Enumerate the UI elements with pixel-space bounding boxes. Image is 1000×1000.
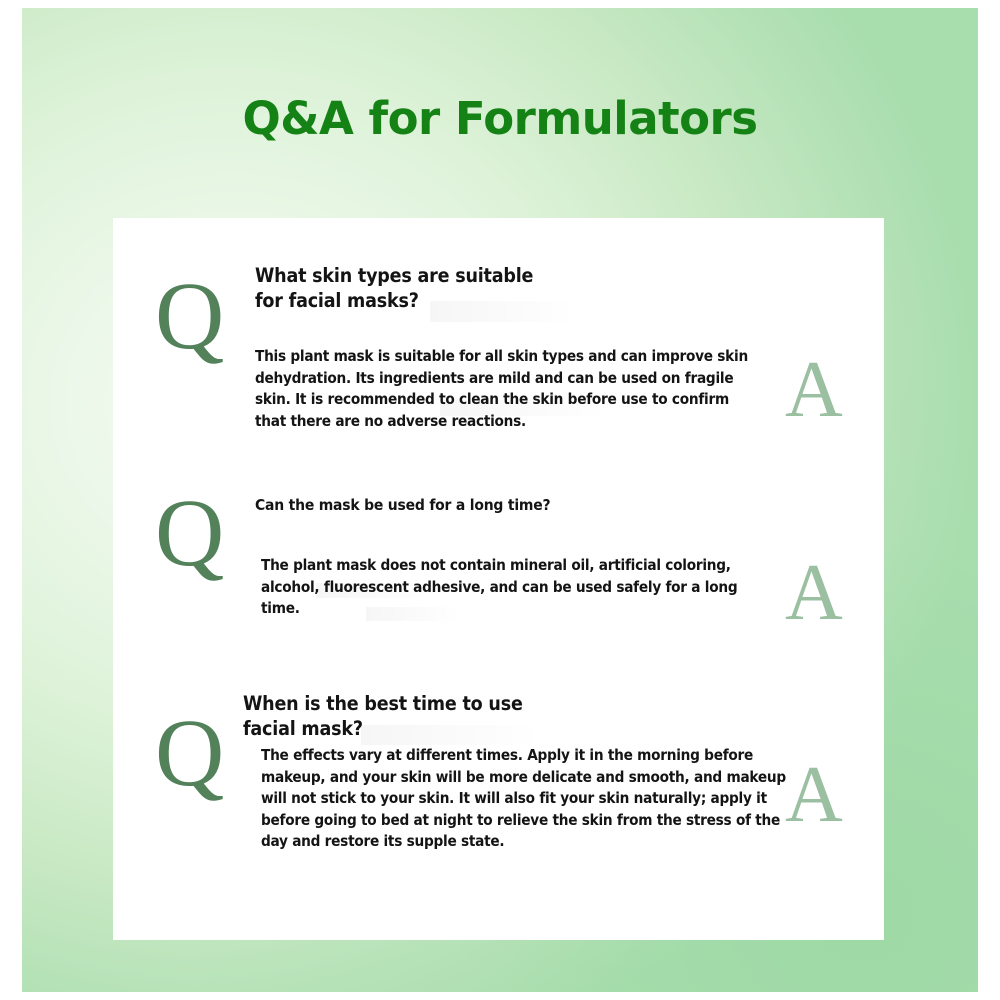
answer-text: The effects vary at different times. App…	[261, 745, 788, 853]
answer-glyph-icon: A	[785, 350, 843, 430]
question-glyph-icon: Q	[155, 268, 224, 364]
question-line-1: Can the mask be used for a long time?	[255, 494, 755, 516]
answer-glyph-icon: A	[785, 553, 843, 633]
answer-text: This plant mask is suitable for all skin…	[255, 346, 750, 432]
qa-card: Q A What skin types are suitable for fac…	[113, 218, 884, 940]
page-title: Q&A for Formulators	[0, 92, 1000, 145]
question-line-2: for facial masks?	[255, 288, 755, 313]
question-line-2: facial mask?	[243, 716, 743, 741]
question-line-1: What skin types are suitable	[255, 263, 755, 288]
answer-glyph-icon: A	[785, 755, 843, 835]
question-glyph-icon: Q	[155, 485, 224, 581]
question-glyph-icon: Q	[155, 705, 224, 801]
page-root: Q&A for Formulators Q A What skin types …	[0, 0, 1000, 1000]
question-line-1: When is the best time to use	[243, 691, 743, 716]
answer-text: The plant mask does not contain mineral …	[261, 555, 761, 620]
